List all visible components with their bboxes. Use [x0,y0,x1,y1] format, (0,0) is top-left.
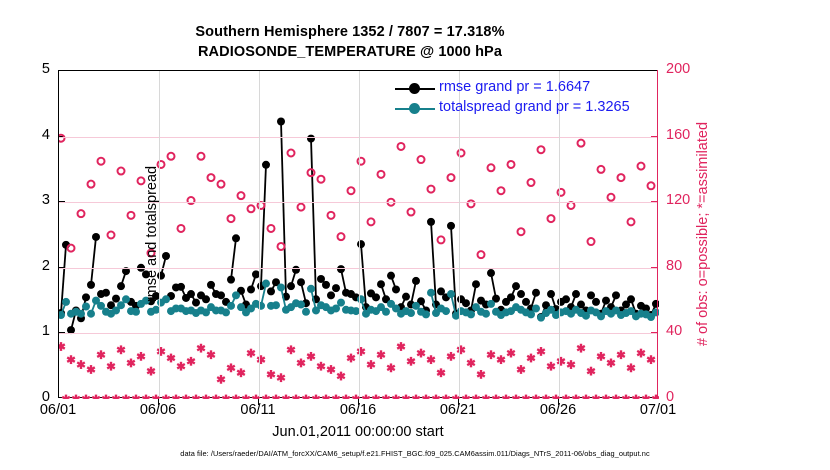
x-tick-label: 06/01 [23,402,93,418]
y-tick-label-left: 4 [16,127,50,143]
x-tick-mark [258,398,259,405]
vertical-gridline [459,71,460,397]
y-axis-label-left: rmse and totalspread [144,84,160,384]
legend-label: totalspread grand pr = 1.3265 [439,99,630,115]
page-title: Southern Hemisphere 1352 / 7807 = 17.318… [0,22,700,62]
x-tick-label: 07/01 [623,402,693,418]
footer-datafile: data file: /Users/raeder/DAI/ATM_forcXX/… [0,449,830,458]
vertical-gridline [559,71,560,397]
vertical-gridline [359,71,360,397]
x-tick-mark [558,398,559,405]
x-axis-label: Jun.01,2011 00:00:00 start [58,424,658,440]
y-axis-label-right: # of obs: o=possible; *=assimilated [695,84,711,384]
title-line-1: Southern Hemisphere 1352 / 7807 = 17.318… [0,22,700,42]
x-tick-mark [458,398,459,405]
chart-page: Southern Hemisphere 1352 / 7807 = 17.318… [0,0,830,470]
y-tick-label-left: 5 [16,61,50,77]
legend-label: rmse grand pr = 1.6647 [439,79,590,95]
y-tick-label-left: 2 [16,258,50,274]
legend-entry: totalspread grand pr = 1.3265 [395,99,647,119]
y-tick-label-left: 1 [16,323,50,339]
legend: rmse grand pr = 1.6647totalspread grand … [395,79,647,119]
legend-entry: rmse grand pr = 1.6647 [395,79,647,99]
legend-marker-dot [409,83,420,94]
title-line-2: RADIOSONDE_TEMPERATURE @ 1000 hPa [0,42,700,62]
y-tick-label-left: 3 [16,192,50,208]
vertical-gridline [259,71,260,397]
x-tick-mark [358,398,359,405]
right-axis-line [657,70,659,398]
x-tick-mark [158,398,159,405]
y-tick-label-right: 200 [666,61,712,77]
legend-marker-dot [409,103,420,114]
